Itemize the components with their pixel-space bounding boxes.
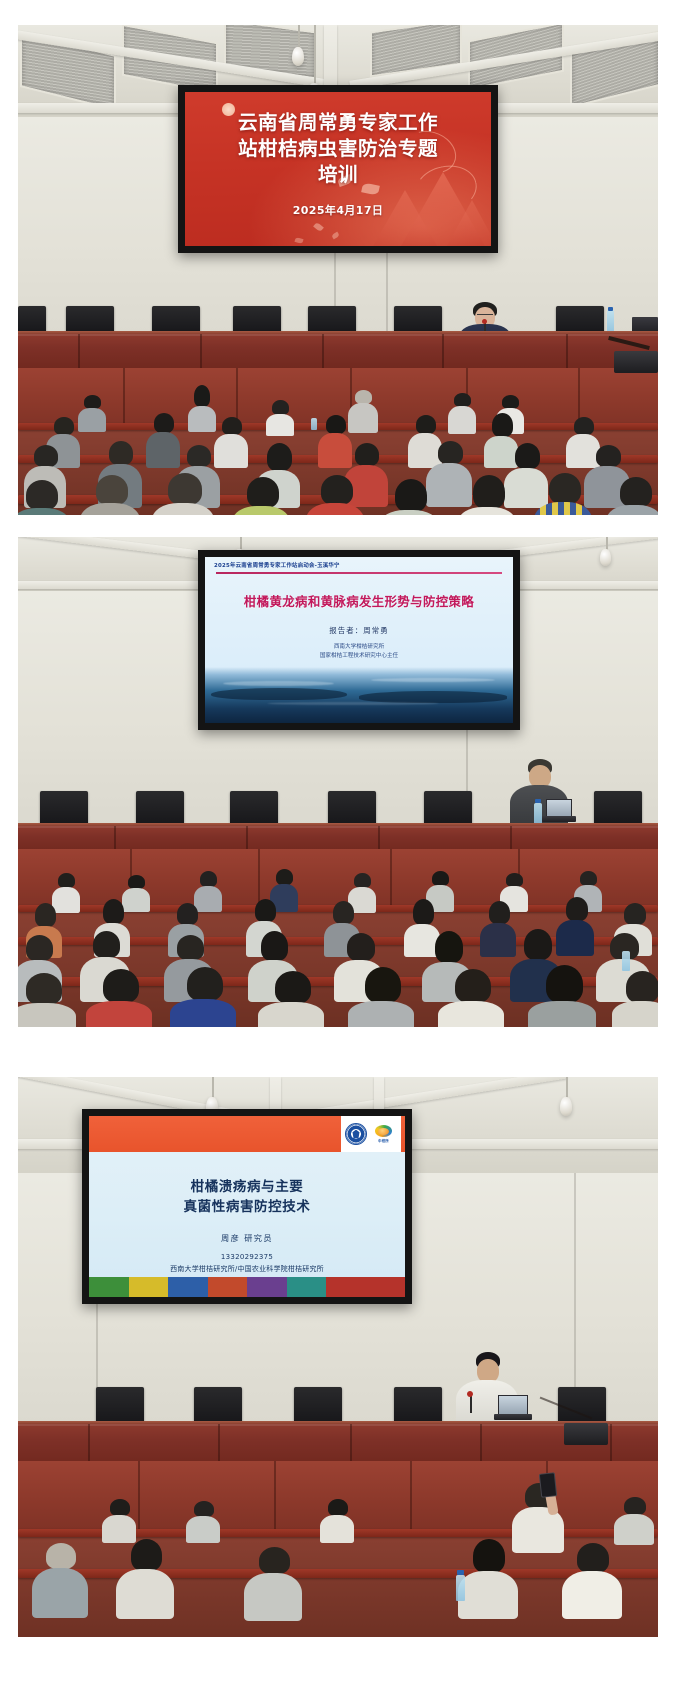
audience-member	[232, 477, 290, 515]
audience-hair	[194, 1501, 214, 1517]
petal-decoration	[313, 222, 324, 232]
slide-2-blue: 2025年云南省周常勇专家工作站启动会-玉溪华宁 柑橘黄龙病和黄脉病发生形势与防…	[205, 557, 513, 723]
audience-body	[116, 1569, 174, 1619]
audience-hair	[502, 395, 519, 409]
water-bottle	[534, 803, 542, 825]
audience-member	[244, 1547, 302, 1619]
head-table-chair	[194, 1387, 242, 1423]
slide-2-title: 柑橘黄龙病和黄脉病发生形势与防控策略	[244, 592, 474, 610]
audience-hair	[577, 1543, 609, 1573]
wall-panel-divider	[138, 1461, 140, 1537]
audience-member	[448, 393, 476, 433]
pendant-light-cord	[298, 25, 300, 49]
microphone-stem	[470, 1395, 472, 1413]
audience-member	[78, 395, 106, 431]
wave-highlight	[267, 702, 439, 705]
laptop-base	[542, 816, 576, 822]
citrus-logo-text: 中柑所	[378, 1138, 389, 1143]
audience-body	[18, 508, 70, 515]
water-bottle	[622, 951, 630, 971]
audience-body	[80, 503, 140, 515]
slide-1-title: 云南省周常勇专家工作 站柑桔病虫害防治专题 培训	[206, 110, 469, 187]
footer-swatch	[168, 1277, 208, 1297]
head-table-chair	[294, 1387, 342, 1423]
audience-hair	[34, 445, 58, 467]
audience-body	[348, 403, 378, 433]
slide-3-title: 柑橘溃疡病与主要 真菌性病害防控技术	[184, 1178, 311, 1217]
footer-swatch	[287, 1277, 327, 1297]
audience-body	[86, 1001, 152, 1027]
audience-hair	[96, 475, 128, 505]
audience-hair	[566, 897, 588, 921]
slide-3-title-line-2: 真菌性病害防控技术	[184, 1198, 311, 1218]
audience-member	[152, 473, 214, 515]
photo-collage-page: 云南省周常勇专家工作 站柑桔病虫害防治专题 培训 2025年4月17日	[0, 0, 700, 1700]
projection-screen-frame-3: 中柑所 柑橘溃疡病与主要 真菌性病害防控技术 周彦 研究员 1332029237…	[82, 1109, 412, 1304]
audience-body	[448, 406, 476, 434]
audience-member	[458, 475, 516, 515]
audience-hair	[46, 1543, 76, 1569]
projection-screen-1: 云南省周常勇专家工作 站柑桔病虫害防治专题 培训 2025年4月17日	[185, 92, 491, 246]
audience-body	[612, 1001, 658, 1027]
audience-hair	[103, 969, 139, 1003]
audience-body	[306, 503, 364, 515]
audience-hair	[275, 971, 311, 1004]
projector-unit	[564, 1423, 608, 1445]
pendant-light-bulb	[600, 549, 611, 566]
audience-hair	[365, 967, 401, 1003]
head-table-chair	[394, 1387, 442, 1423]
photo-1-opening-ceremony: 云南省周常勇专家工作 站柑桔病虫害防治专题 培训 2025年4月17日	[18, 25, 658, 515]
audience-body	[614, 1514, 654, 1545]
slide-1-title-line-1: 云南省周常勇专家工作	[206, 110, 469, 136]
audience-body	[380, 510, 438, 515]
slide-1-date: 2025年4月17日	[293, 202, 384, 218]
audience-body	[170, 999, 236, 1027]
audience-hair	[35, 903, 56, 927]
audience-hair	[333, 901, 354, 924]
audience-member	[606, 477, 658, 515]
podium-seam	[322, 334, 324, 368]
audience-hair	[259, 1547, 290, 1574]
audience-hair	[596, 445, 621, 467]
slide-2-affiliation: 西南大学柑桔研究所 国家柑桔工程技术研究中心主任	[320, 643, 398, 661]
audience-member	[188, 385, 216, 431]
podium-seam	[480, 1424, 482, 1464]
audience-hair	[515, 443, 540, 469]
audience-body	[348, 1001, 414, 1027]
head-table-chair	[152, 306, 200, 333]
audience-body	[18, 1003, 76, 1027]
audience-hair	[473, 475, 505, 509]
water-bottle	[311, 418, 317, 430]
podium-seam	[78, 334, 80, 368]
slide-3-phone: 13320292375	[221, 1253, 273, 1261]
pendant-light-cord	[566, 1077, 568, 1099]
slide-3-title-line-1: 柑橘溃疡病与主要	[184, 1178, 311, 1198]
university-seal-icon	[345, 1123, 367, 1145]
audience-hair	[354, 873, 371, 888]
head-table-chair	[18, 306, 46, 333]
water-bottle-cap	[608, 307, 613, 311]
audience-member	[116, 1539, 174, 1617]
pendant-light-bulb	[560, 1097, 572, 1116]
wall-seam	[574, 1173, 576, 1423]
audience-member	[306, 475, 364, 515]
audience-body	[320, 1515, 354, 1543]
audience-member	[348, 967, 414, 1027]
photo-3-lecture-zhou-yan: 中柑所 柑橘溃疡病与主要 真菌性病害防控技术 周彦 研究员 1332029237…	[18, 1077, 658, 1637]
head-table-chair	[558, 1387, 606, 1423]
wave-crest	[211, 688, 347, 700]
slide-1-title-line-2: 站柑桔病虫害防治专题	[206, 136, 469, 162]
podium-seam	[610, 1424, 612, 1464]
audience-body	[266, 414, 294, 436]
audience-body	[458, 507, 516, 515]
audience-hair	[626, 971, 658, 1003]
audience-member	[380, 479, 438, 515]
photo-2-lecture-zhou-changyong: 2025年云南省周常勇专家工作站启动会-玉溪华宁 柑橘黄龙病和黄脉病发生形势与防…	[18, 537, 658, 1027]
wall-panel-divider	[274, 1461, 276, 1537]
audience-body	[258, 1002, 324, 1027]
audience-member	[438, 969, 504, 1027]
wall-panel-divider	[410, 1461, 412, 1537]
head-table-chair	[394, 306, 442, 333]
laptop-screen	[546, 799, 572, 817]
audience-hair	[84, 395, 101, 409]
slide-2-header: 2025年云南省周常勇专家工作站启动会-玉溪华宁	[205, 557, 513, 572]
podium-seam	[566, 334, 568, 368]
slide-2-affiliation-line-2: 国家柑桔工程技术研究中心主任	[320, 652, 398, 661]
audience-member	[18, 973, 76, 1027]
audience-hair	[200, 871, 217, 887]
audience-body	[78, 408, 106, 432]
audience-hair	[93, 931, 120, 958]
projector-unit	[614, 351, 658, 373]
podium-seam	[350, 1424, 352, 1464]
audience-hair	[454, 393, 471, 407]
audience-hair	[26, 480, 58, 510]
audience-hair	[438, 441, 463, 464]
audience-member	[32, 1543, 88, 1617]
audience-body	[146, 432, 180, 468]
audience-hair	[624, 903, 646, 925]
audience-hair	[455, 969, 491, 1003]
projection-screen-frame-2: 2025年云南省周常勇专家工作站启动会-玉溪华宁 柑橘黄龙病和黄脉病发生形势与防…	[198, 550, 520, 730]
slide-2-ocean-image	[205, 667, 513, 723]
audience-hair	[276, 869, 293, 885]
audience-hair	[435, 931, 463, 963]
audience-hair	[489, 901, 510, 924]
audience-hair	[222, 417, 242, 435]
audience-member	[258, 971, 324, 1027]
head-table-chair	[230, 791, 278, 825]
audience-member	[458, 1539, 518, 1617]
citrus-fruit-icon	[375, 1125, 392, 1137]
audience-hair	[131, 1539, 162, 1571]
head-table-chair	[233, 306, 281, 333]
audience-hair	[574, 417, 594, 435]
wall-panel-divider	[390, 849, 392, 913]
audience-hair	[620, 477, 652, 507]
audience-hair	[255, 899, 276, 922]
audience-member	[146, 413, 180, 467]
audience-body	[232, 506, 290, 515]
audience-hair	[109, 441, 133, 465]
audience-hair	[26, 935, 53, 961]
podium-seam	[218, 1424, 220, 1464]
pendant-light-cord	[212, 1077, 214, 1099]
footer-swatch	[247, 1277, 287, 1297]
slide-3-footer-swatches	[89, 1277, 405, 1297]
head-table-chair	[424, 791, 472, 825]
audience-hair	[432, 871, 449, 886]
audience-hair	[58, 873, 75, 888]
slide-1-title-line-3: 培训	[206, 162, 469, 188]
head-table-chair	[66, 306, 114, 333]
water-bottle	[456, 1575, 465, 1601]
audience-member	[534, 473, 592, 515]
audience-body	[244, 1573, 302, 1621]
audience-hair	[110, 1499, 130, 1516]
audience-hair	[413, 899, 434, 925]
audience-hair	[416, 415, 436, 434]
audience-hair	[154, 413, 174, 433]
audience-body	[438, 1001, 504, 1027]
audience-hair	[168, 473, 202, 505]
laptop-screen	[498, 1395, 528, 1415]
audience-member	[102, 1499, 136, 1541]
wave-highlight	[223, 681, 334, 686]
audience-hair	[492, 413, 513, 437]
head-table-chair	[96, 1387, 144, 1423]
audience-body	[528, 1001, 596, 1027]
audience-hair	[247, 477, 279, 508]
audience-member	[612, 971, 658, 1027]
wave-highlight	[371, 678, 494, 682]
head-table-chair	[594, 791, 642, 825]
footer-swatch	[89, 1277, 129, 1297]
footer-swatch	[326, 1277, 405, 1297]
audience-hair	[54, 417, 74, 435]
audience-body	[458, 1571, 518, 1619]
head-table-chair	[40, 791, 88, 825]
audience-member	[266, 400, 294, 434]
podium-front-panel	[18, 1424, 658, 1464]
audience-body	[152, 503, 214, 515]
audience-body	[32, 1568, 88, 1618]
footer-swatch	[129, 1277, 169, 1297]
head-table-chair	[136, 791, 184, 825]
audience-member	[528, 965, 596, 1027]
audience-body	[188, 406, 216, 432]
slide-3-orange-band: 中柑所	[89, 1116, 405, 1152]
audience-member	[348, 390, 378, 432]
audience-hair	[194, 385, 210, 407]
podium-seam	[88, 1424, 90, 1464]
audience-hair	[128, 875, 145, 889]
audience-hair	[524, 929, 552, 960]
pendant-light-bulb	[292, 47, 304, 66]
audience-body	[562, 1571, 622, 1619]
audience-body	[534, 502, 592, 515]
audience-hair	[580, 871, 597, 886]
audience-hair	[549, 473, 581, 504]
slide-3-logo-group: 中柑所	[341, 1116, 401, 1152]
wave-crest	[359, 691, 507, 702]
audience-hair	[506, 873, 523, 887]
microphone-head-icon	[467, 1391, 473, 1397]
water-bottle	[607, 310, 614, 332]
audience-member	[562, 1543, 622, 1617]
footer-swatch	[208, 1277, 248, 1297]
audience-member	[320, 1499, 354, 1541]
audience-member	[18, 480, 70, 515]
audience-hair	[261, 931, 288, 961]
podium-seam	[442, 334, 444, 368]
audience-body	[606, 505, 658, 515]
audience-member	[80, 475, 140, 515]
projection-screen-frame-1: 云南省周常勇专家工作 站柑桔病虫害防治专题 培训 2025年4月17日	[178, 85, 498, 253]
audience-hair	[177, 935, 204, 960]
audience-hair	[26, 973, 62, 1005]
slide-1-red: 云南省周常勇专家工作 站柑桔病虫害防治专题 培训 2025年4月17日	[185, 92, 491, 246]
audience-hair	[546, 965, 583, 1003]
audience-member	[614, 1497, 654, 1543]
audience-hair	[355, 390, 372, 404]
slide-2-presenter: 报告者：周常勇	[329, 625, 388, 636]
smartphone-held-up	[539, 1472, 557, 1498]
audience-member	[170, 967, 236, 1027]
audience-hair	[326, 415, 346, 434]
laptop-base	[494, 1414, 532, 1420]
audience-hair	[395, 479, 427, 512]
audience-hair	[473, 1539, 505, 1573]
presenter-glasses-icon	[477, 314, 493, 317]
water-bottle-cap	[535, 799, 541, 803]
slide-3-white: 中柑所 柑橘溃疡病与主要 真菌性病害防控技术 周彦 研究员 1332029237…	[89, 1116, 405, 1297]
podium-front-panel	[18, 334, 658, 368]
head-table-chair	[328, 791, 376, 825]
audience-hair	[328, 1499, 348, 1516]
audience-hair	[272, 400, 289, 415]
microphone-head-icon	[482, 319, 487, 324]
audience-hair	[177, 903, 198, 925]
audience-hair	[103, 899, 124, 924]
petal-decoration	[331, 232, 340, 240]
audience-hair	[355, 443, 379, 466]
audience-member	[86, 969, 152, 1027]
pendant-light-cord	[314, 25, 316, 85]
projection-screen-3: 中柑所 柑橘溃疡病与主要 真菌性病害防控技术 周彦 研究员 1332029237…	[89, 1116, 405, 1297]
water-bottle-cap	[457, 1570, 464, 1575]
audience-hair	[321, 475, 353, 505]
citrus-institute-logo-icon: 中柑所	[370, 1122, 397, 1146]
petal-decoration	[295, 237, 304, 244]
audience-hair	[624, 1497, 646, 1515]
slide-3-affiliation: 西南大学柑桔研究所/中国农业科学院柑桔研究所	[170, 1264, 324, 1274]
audience-hair	[267, 443, 292, 471]
podium-seam	[200, 334, 202, 368]
slide-3-presenter: 周彦 研究员	[221, 1232, 273, 1244]
audience-member	[186, 1501, 220, 1541]
audience-hair	[187, 967, 223, 1001]
head-table-chair	[308, 306, 356, 333]
slide-2-affiliation-line-1: 西南大学柑桔研究所	[320, 643, 398, 652]
slide-2-divider	[216, 572, 502, 574]
head-table-chair	[556, 306, 604, 333]
audience-body	[186, 1516, 220, 1543]
audience-hair	[187, 445, 211, 467]
audience-hair	[347, 933, 375, 961]
projection-screen-2: 2025年云南省周常勇专家工作站启动会-玉溪华宁 柑橘黄龙病和黄脉病发生形势与防…	[205, 557, 513, 723]
